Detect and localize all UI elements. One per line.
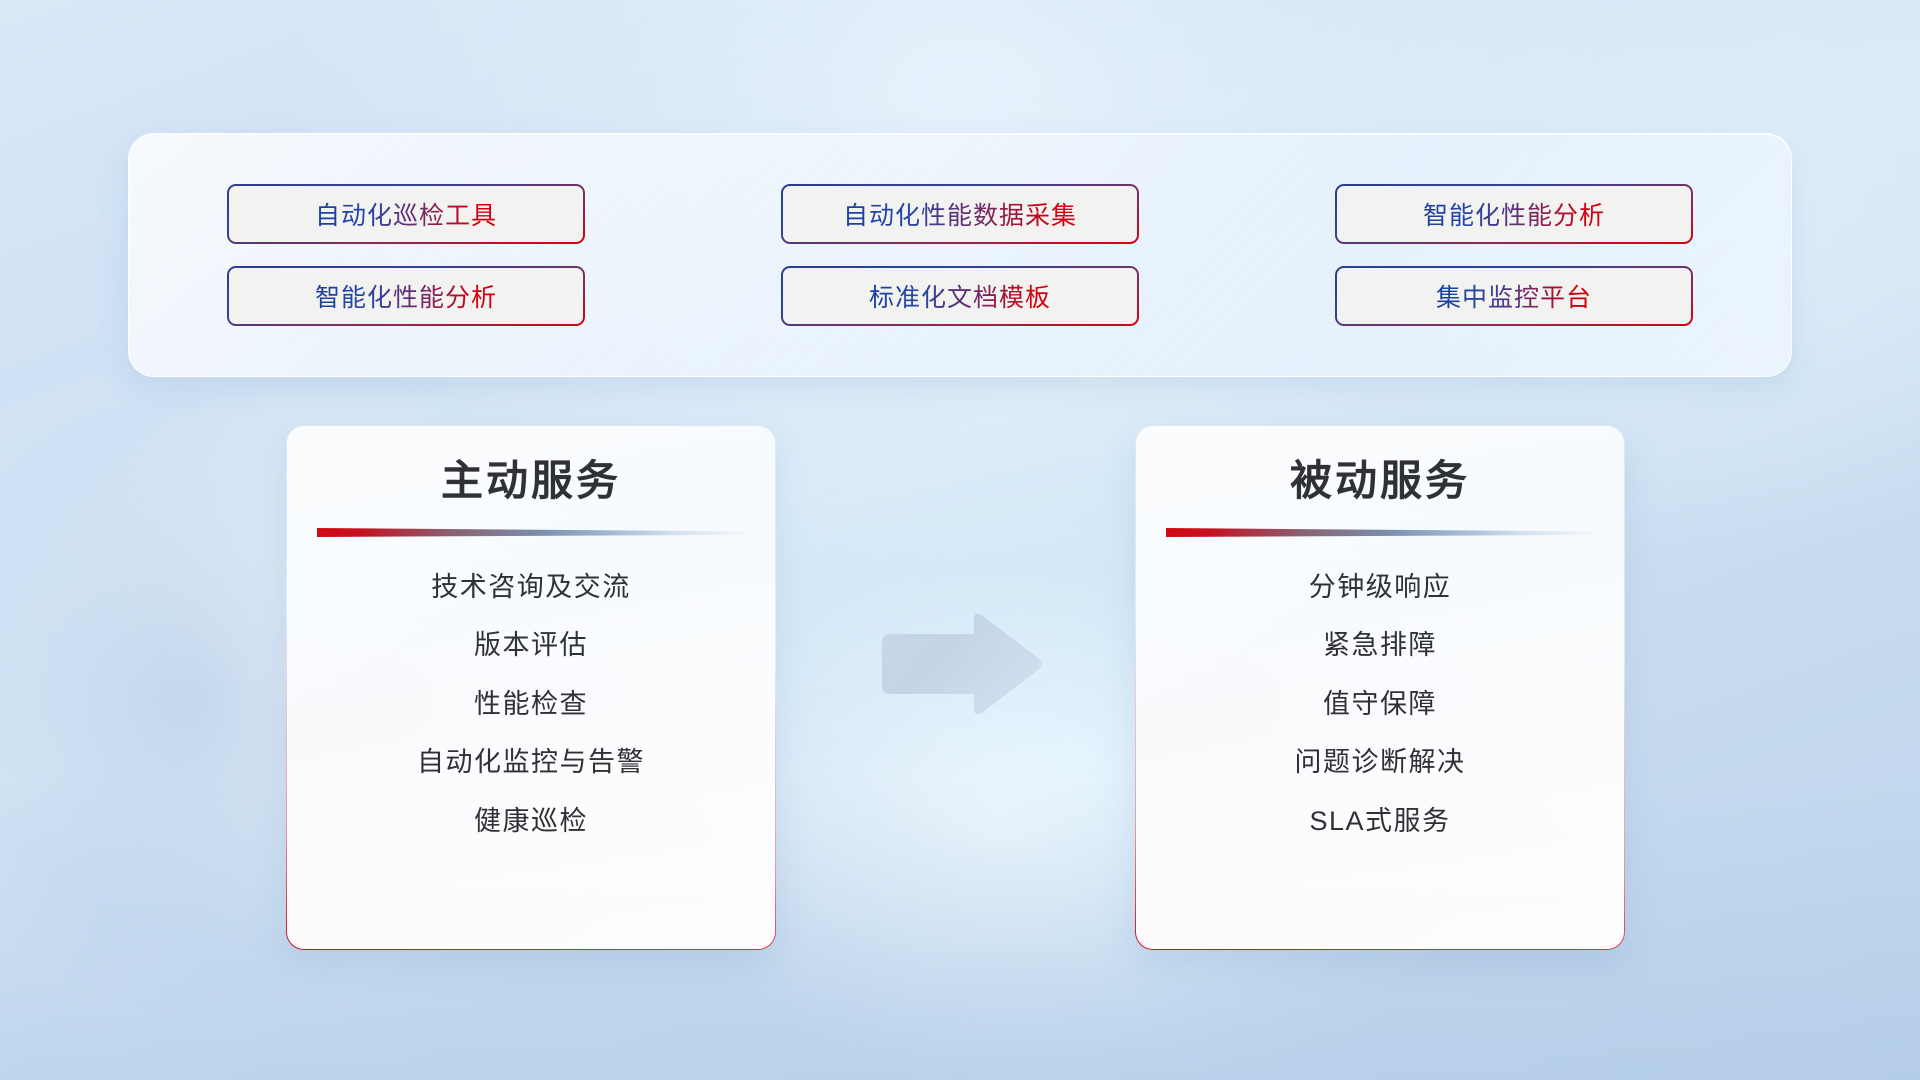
list-item: 问题诊断解决 bbox=[1295, 746, 1466, 778]
capability-chip-centralized-monitoring-platform[interactable]: 集中监控平台 bbox=[1335, 266, 1693, 326]
list-item: 版本评估 bbox=[474, 629, 588, 661]
card-title: 主动服务 bbox=[441, 460, 621, 502]
capability-chip-label: 智能化性能分析 bbox=[1423, 196, 1605, 232]
capability-chip-label: 标准化文档模板 bbox=[869, 278, 1051, 314]
capability-row-1: 自动化巡检工具 自动化性能数据采集 智能化性能分析 bbox=[129, 184, 1791, 244]
capability-chip-label: 集中监控平台 bbox=[1436, 278, 1592, 314]
capability-chip-label: 智能化性能分析 bbox=[315, 278, 497, 314]
capability-chip-intelligent-performance-analysis-a[interactable]: 智能化性能分析 bbox=[1335, 184, 1693, 244]
service-list-reactive: 分钟级响应 紧急排障 值守保障 问题诊断解决 SLA式服务 bbox=[1136, 571, 1624, 837]
capability-chip-label: 自动化性能数据采集 bbox=[843, 196, 1077, 232]
card-title: 被动服务 bbox=[1290, 460, 1470, 502]
capability-panel: 自动化巡检工具 自动化性能数据采集 智能化性能分析 智能化性能分析 标准化文档模… bbox=[128, 133, 1792, 377]
capability-chip-standardized-document-template[interactable]: 标准化文档模板 bbox=[781, 266, 1139, 326]
capability-row-2: 智能化性能分析 标准化文档模板 集中监控平台 bbox=[129, 266, 1791, 326]
list-item: 分钟级响应 bbox=[1309, 571, 1452, 603]
card-divider-bar bbox=[1166, 528, 1594, 537]
capability-chip-automated-inspection-tool[interactable]: 自动化巡检工具 bbox=[227, 184, 585, 244]
service-list-proactive: 技术咨询及交流 版本评估 性能检查 自动化监控与告警 健康巡检 bbox=[287, 571, 775, 837]
card-divider-bar bbox=[317, 528, 745, 537]
list-item: 紧急排障 bbox=[1323, 629, 1437, 661]
list-item: SLA式服务 bbox=[1309, 805, 1450, 837]
card-divider bbox=[317, 528, 745, 537]
list-item: 自动化监控与告警 bbox=[417, 746, 645, 778]
capability-chip-intelligent-performance-analysis-b[interactable]: 智能化性能分析 bbox=[227, 266, 585, 326]
list-item: 健康巡检 bbox=[474, 805, 588, 837]
list-item: 技术咨询及交流 bbox=[431, 571, 631, 603]
capability-chip-automated-performance-data-collection[interactable]: 自动化性能数据采集 bbox=[781, 184, 1139, 244]
list-item: 值守保障 bbox=[1323, 688, 1437, 720]
service-card-reactive: 被动服务 分钟级响应 紧急排障 值守保障 问题诊断解决 SLA式服务 bbox=[1135, 425, 1625, 950]
list-item: 性能检查 bbox=[474, 688, 588, 720]
capability-chip-label: 自动化巡检工具 bbox=[315, 196, 497, 232]
service-card-proactive: 主动服务 技术咨询及交流 版本评估 性能检查 自动化监控与告警 健康巡检 bbox=[286, 425, 776, 950]
card-divider bbox=[1166, 528, 1594, 537]
